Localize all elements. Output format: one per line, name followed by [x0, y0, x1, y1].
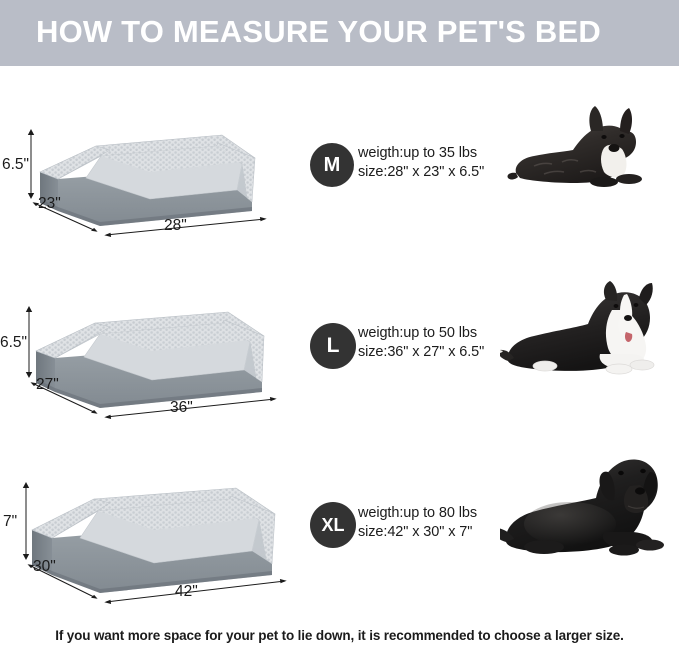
dimension-spec-m: size:28" x 23" x 6.5": [358, 163, 484, 182]
dimension-spec-xl: size:42" x 30" x 7": [358, 523, 477, 542]
bed-depth-label-m: 23": [38, 195, 61, 212]
bed-width-label-xl: 42": [175, 583, 198, 600]
size-row-l: 6.5" 27" 36" 6.5" 27" 36" L: [0, 266, 679, 446]
size-row-xl: 7" 30" 42" 7" 30" 42" XL: [0, 446, 679, 626]
footer-note: If you want more space for your pet to l…: [0, 628, 679, 643]
bed-depth-label-xl: 30": [33, 558, 56, 575]
page-title: HOW TO MEASURE YOUR PET'S BED: [36, 14, 601, 50]
weight-spec-l: weigth:up to 50 lbs: [358, 324, 484, 343]
weight-spec-m: weigth:up to 35 lbs: [358, 144, 484, 163]
spec-text-xl: weigth:up to 80 lbs size:42" x 30" x 7": [358, 504, 477, 542]
bed-diagram-l: 6.5" 27" 36" 6.5" 27" 36": [0, 266, 300, 446]
bed-height-label-l: 6.5": [0, 334, 27, 351]
dog-photo-border-collie: [500, 266, 679, 446]
spec-text-m: weigth:up to 35 lbs size:28" x 23" x 6.5…: [358, 144, 484, 182]
bed-diagram-xl: 7" 30" 42" 7" 30" 42": [0, 446, 300, 626]
spec-block-l: L weigth:up to 50 lbs size:36" x 27" x 6…: [300, 266, 515, 446]
bed-width-label-m: 28": [164, 217, 187, 234]
bed-height-label-xl: 7": [3, 513, 17, 530]
spec-text-l: weigth:up to 50 lbs size:36" x 27" x 6.5…: [358, 324, 484, 362]
bed-diagram-m: 6.5" 23" 28" 6.5" 23" 28": [0, 86, 300, 266]
bed-height-label-m: 6.5": [2, 156, 29, 173]
size-badge-m: M: [310, 143, 354, 187]
dog-photo-black-labrador: [500, 446, 679, 626]
dimension-spec-l: size:36" x 27" x 6.5": [358, 343, 484, 362]
dog-photo-french-bulldog: [500, 86, 679, 266]
spec-block-xl: XL weigth:up to 80 lbs size:42" x 30" x …: [300, 446, 515, 626]
size-badge-l: L: [310, 323, 356, 369]
size-badge-xl: XL: [310, 502, 356, 548]
pet-bed-size-infographic: HOW TO MEASURE YOUR PET'S BED: [0, 0, 679, 658]
weight-spec-xl: weigth:up to 80 lbs: [358, 504, 477, 523]
spec-block-m: M weigth:up to 35 lbs size:28" x 23" x 6…: [300, 86, 515, 266]
bed-depth-label-l: 27": [36, 376, 59, 393]
size-row-m: 6.5" 23" 28" 6.5" 23" 28": [0, 86, 679, 266]
header-banner: HOW TO MEASURE YOUR PET'S BED: [0, 0, 679, 66]
bed-width-label-l: 36": [170, 399, 193, 416]
